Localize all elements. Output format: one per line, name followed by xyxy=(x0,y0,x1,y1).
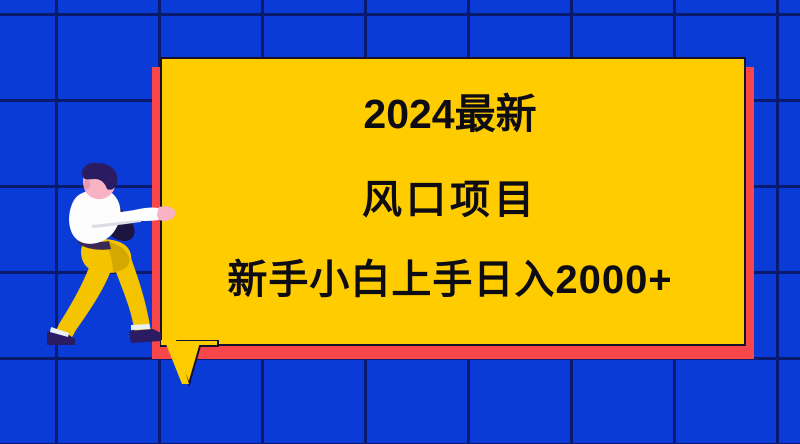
headline-line-3: 新手小白上手日入2000+ xyxy=(227,260,672,300)
headline-block: 2024最新 风口项目 新手小白上手日入2000+ xyxy=(200,78,700,328)
person-pushing-icon xyxy=(45,163,180,353)
headline-line-1: 2024最新 xyxy=(363,94,536,135)
poster-canvas: 2024最新 风口项目 新手小白上手日入2000+ xyxy=(0,0,800,444)
headline-line-2: 风口项目 xyxy=(362,180,538,220)
